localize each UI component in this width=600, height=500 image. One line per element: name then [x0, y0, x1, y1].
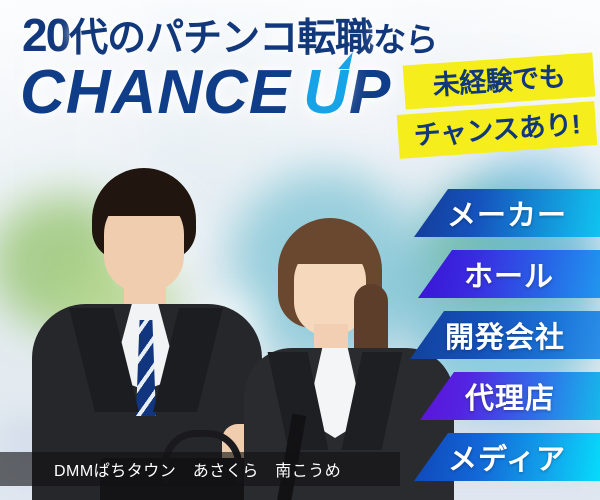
businessman-fringe — [98, 182, 192, 216]
logo-u-arrow: U — [303, 58, 349, 127]
headline-suffix: なら — [373, 21, 437, 58]
headline-number: 20 — [22, 9, 69, 61]
logo-p-text: P — [349, 58, 391, 127]
chance-up-logo: CHANCEUP — [20, 62, 391, 124]
businesswoman-fringe — [284, 232, 378, 264]
page-title: 20代のパチンコ転職なら — [22, 12, 437, 58]
logo-chance-text: CHANCE — [20, 58, 291, 127]
credit-text: DMMぱちタウン あさくら 南こうめ — [0, 457, 341, 481]
credit-strip: DMMぱちタウン あさくら 南こうめ — [0, 452, 400, 486]
headline-mid: 代のパチンコ転職 — [69, 17, 373, 60]
advertisement-banner[interactable]: 20代のパチンコ転職なら CHANCEUP 未経験でも チャンスあり! メーカー… — [0, 0, 600, 500]
